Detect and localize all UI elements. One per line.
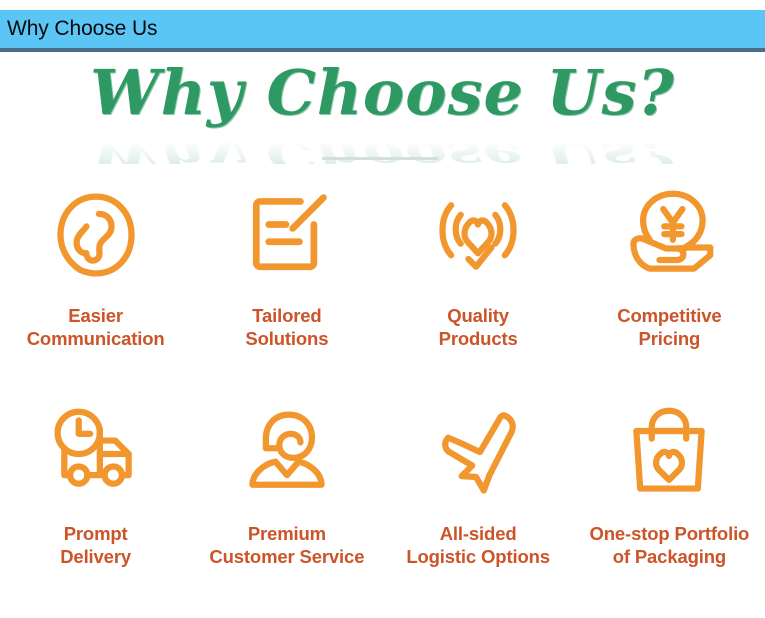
feature-label: Competitive Pricing <box>617 304 721 351</box>
heading-divider <box>322 157 438 160</box>
feature-label: Quality Products <box>439 304 518 351</box>
feature-item-tailored-solutions[interactable]: Tailored Solutions <box>191 186 382 402</box>
truck-clock-icon <box>46 404 146 504</box>
page-content: Why Choose Us? Why Choose Us? Easier Com… <box>0 56 765 599</box>
page-title: Why Choose Us? <box>0 62 765 124</box>
window-title: Why Choose Us <box>0 17 157 41</box>
feature-item-all-sided-logistic-options[interactable]: All-sided Logistic Options <box>383 402 574 618</box>
shopping-bag-heart-icon <box>619 404 719 504</box>
heart-waves-check-icon <box>428 186 528 286</box>
feature-label: All-sided Logistic Options <box>406 522 550 569</box>
airplane-icon <box>428 404 528 504</box>
feature-label: Tailored Solutions <box>245 304 328 351</box>
feature-item-quality-products[interactable]: Quality Products <box>383 186 574 402</box>
feature-item-one-stop-portfolio-of-packaging[interactable]: One-stop Portfolio of Packaging <box>574 402 765 618</box>
feature-item-competitive-pricing[interactable]: Competitive Pricing <box>574 186 765 402</box>
page-heading-block: Why Choose Us? Why Choose Us? <box>0 56 765 164</box>
feature-grid: Easier Communication Tailored Solutions <box>0 186 765 618</box>
feature-label: One-stop Portfolio of Packaging <box>590 522 750 569</box>
document-pen-icon <box>237 186 337 286</box>
feature-item-prompt-delivery[interactable]: Prompt Delivery <box>0 402 191 618</box>
feature-label: Easier Communication <box>27 304 165 351</box>
feature-label: Prompt Delivery <box>60 522 131 569</box>
headset-person-icon <box>237 404 337 504</box>
feature-item-easier-communication[interactable]: Easier Communication <box>0 186 191 402</box>
feature-label: Premium Customer Service <box>209 522 364 569</box>
hand-yen-coin-icon <box>619 186 719 286</box>
ear-in-circle-icon <box>46 186 146 286</box>
window-title-banner: Why Choose Us <box>0 10 765 52</box>
feature-item-premium-customer-service[interactable]: Premium Customer Service <box>191 402 382 618</box>
